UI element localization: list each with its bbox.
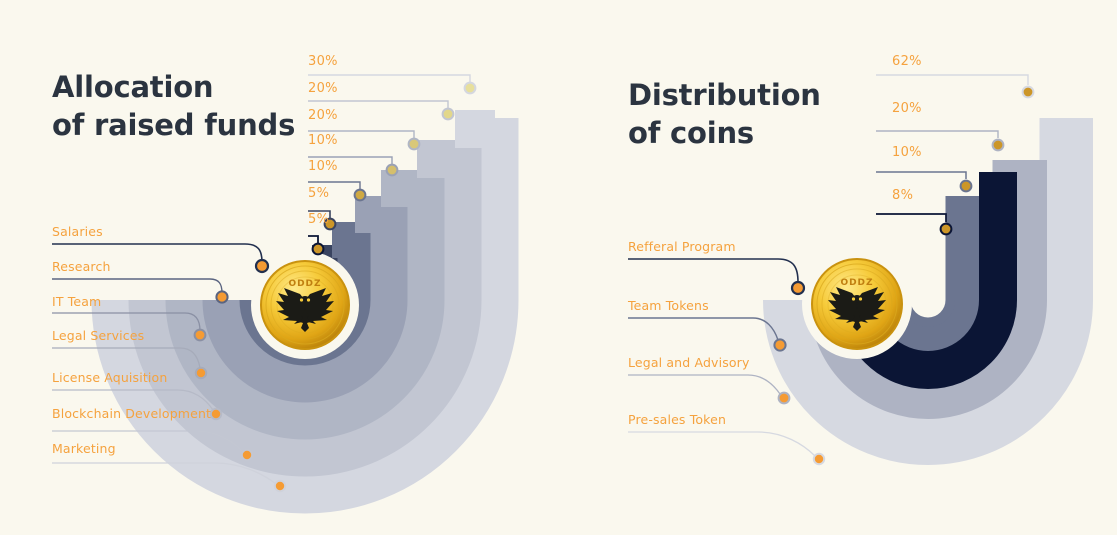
dot-pct-20b[interactable] — [409, 139, 420, 150]
pct-label-r1: 62% — [892, 54, 922, 69]
dot-pct-5b[interactable] — [313, 244, 324, 255]
dot-pct-20[interactable] — [993, 140, 1004, 151]
pct-label-5: 10% — [308, 159, 338, 174]
pct-label-3: 20% — [308, 108, 338, 123]
pct-label-r4: 8% — [892, 188, 913, 203]
dot-pct-10b[interactable] — [355, 190, 366, 201]
dot-pct-10[interactable] — [961, 181, 972, 192]
leader-pct-20 — [876, 131, 998, 138]
pct-label-2: 20% — [308, 81, 338, 96]
pct-label-r3: 10% — [892, 145, 922, 160]
right-percent-leaders — [558, 0, 1117, 535]
dot-pct-10a[interactable] — [387, 165, 398, 176]
infographic-canvas: Allocation of raised funds — [0, 0, 1117, 535]
panel-allocation-of-raised-funds: Allocation of raised funds — [0, 0, 558, 535]
pct-label-6: 5% — [308, 186, 329, 201]
dot-pct-8[interactable] — [941, 224, 952, 235]
panel-distribution-of-coins: Distribution of coins — [558, 0, 1117, 535]
dot-pct-62[interactable] — [1023, 87, 1034, 98]
leader-pct-5b — [308, 236, 318, 243]
dot-pct-30[interactable] — [465, 83, 476, 94]
leader-pct-8 — [876, 214, 946, 222]
pct-label-4: 10% — [308, 133, 338, 148]
leader-pct-62 — [876, 75, 1028, 85]
leader-pct-10 — [876, 172, 966, 179]
pct-label-r2: 20% — [892, 101, 922, 116]
left-percent-leaders — [0, 0, 558, 535]
leader-pct-20a — [308, 101, 448, 108]
pct-label-7: 5% — [308, 212, 329, 227]
dot-pct-20a[interactable] — [443, 109, 454, 120]
pct-label-1: 30% — [308, 54, 338, 69]
